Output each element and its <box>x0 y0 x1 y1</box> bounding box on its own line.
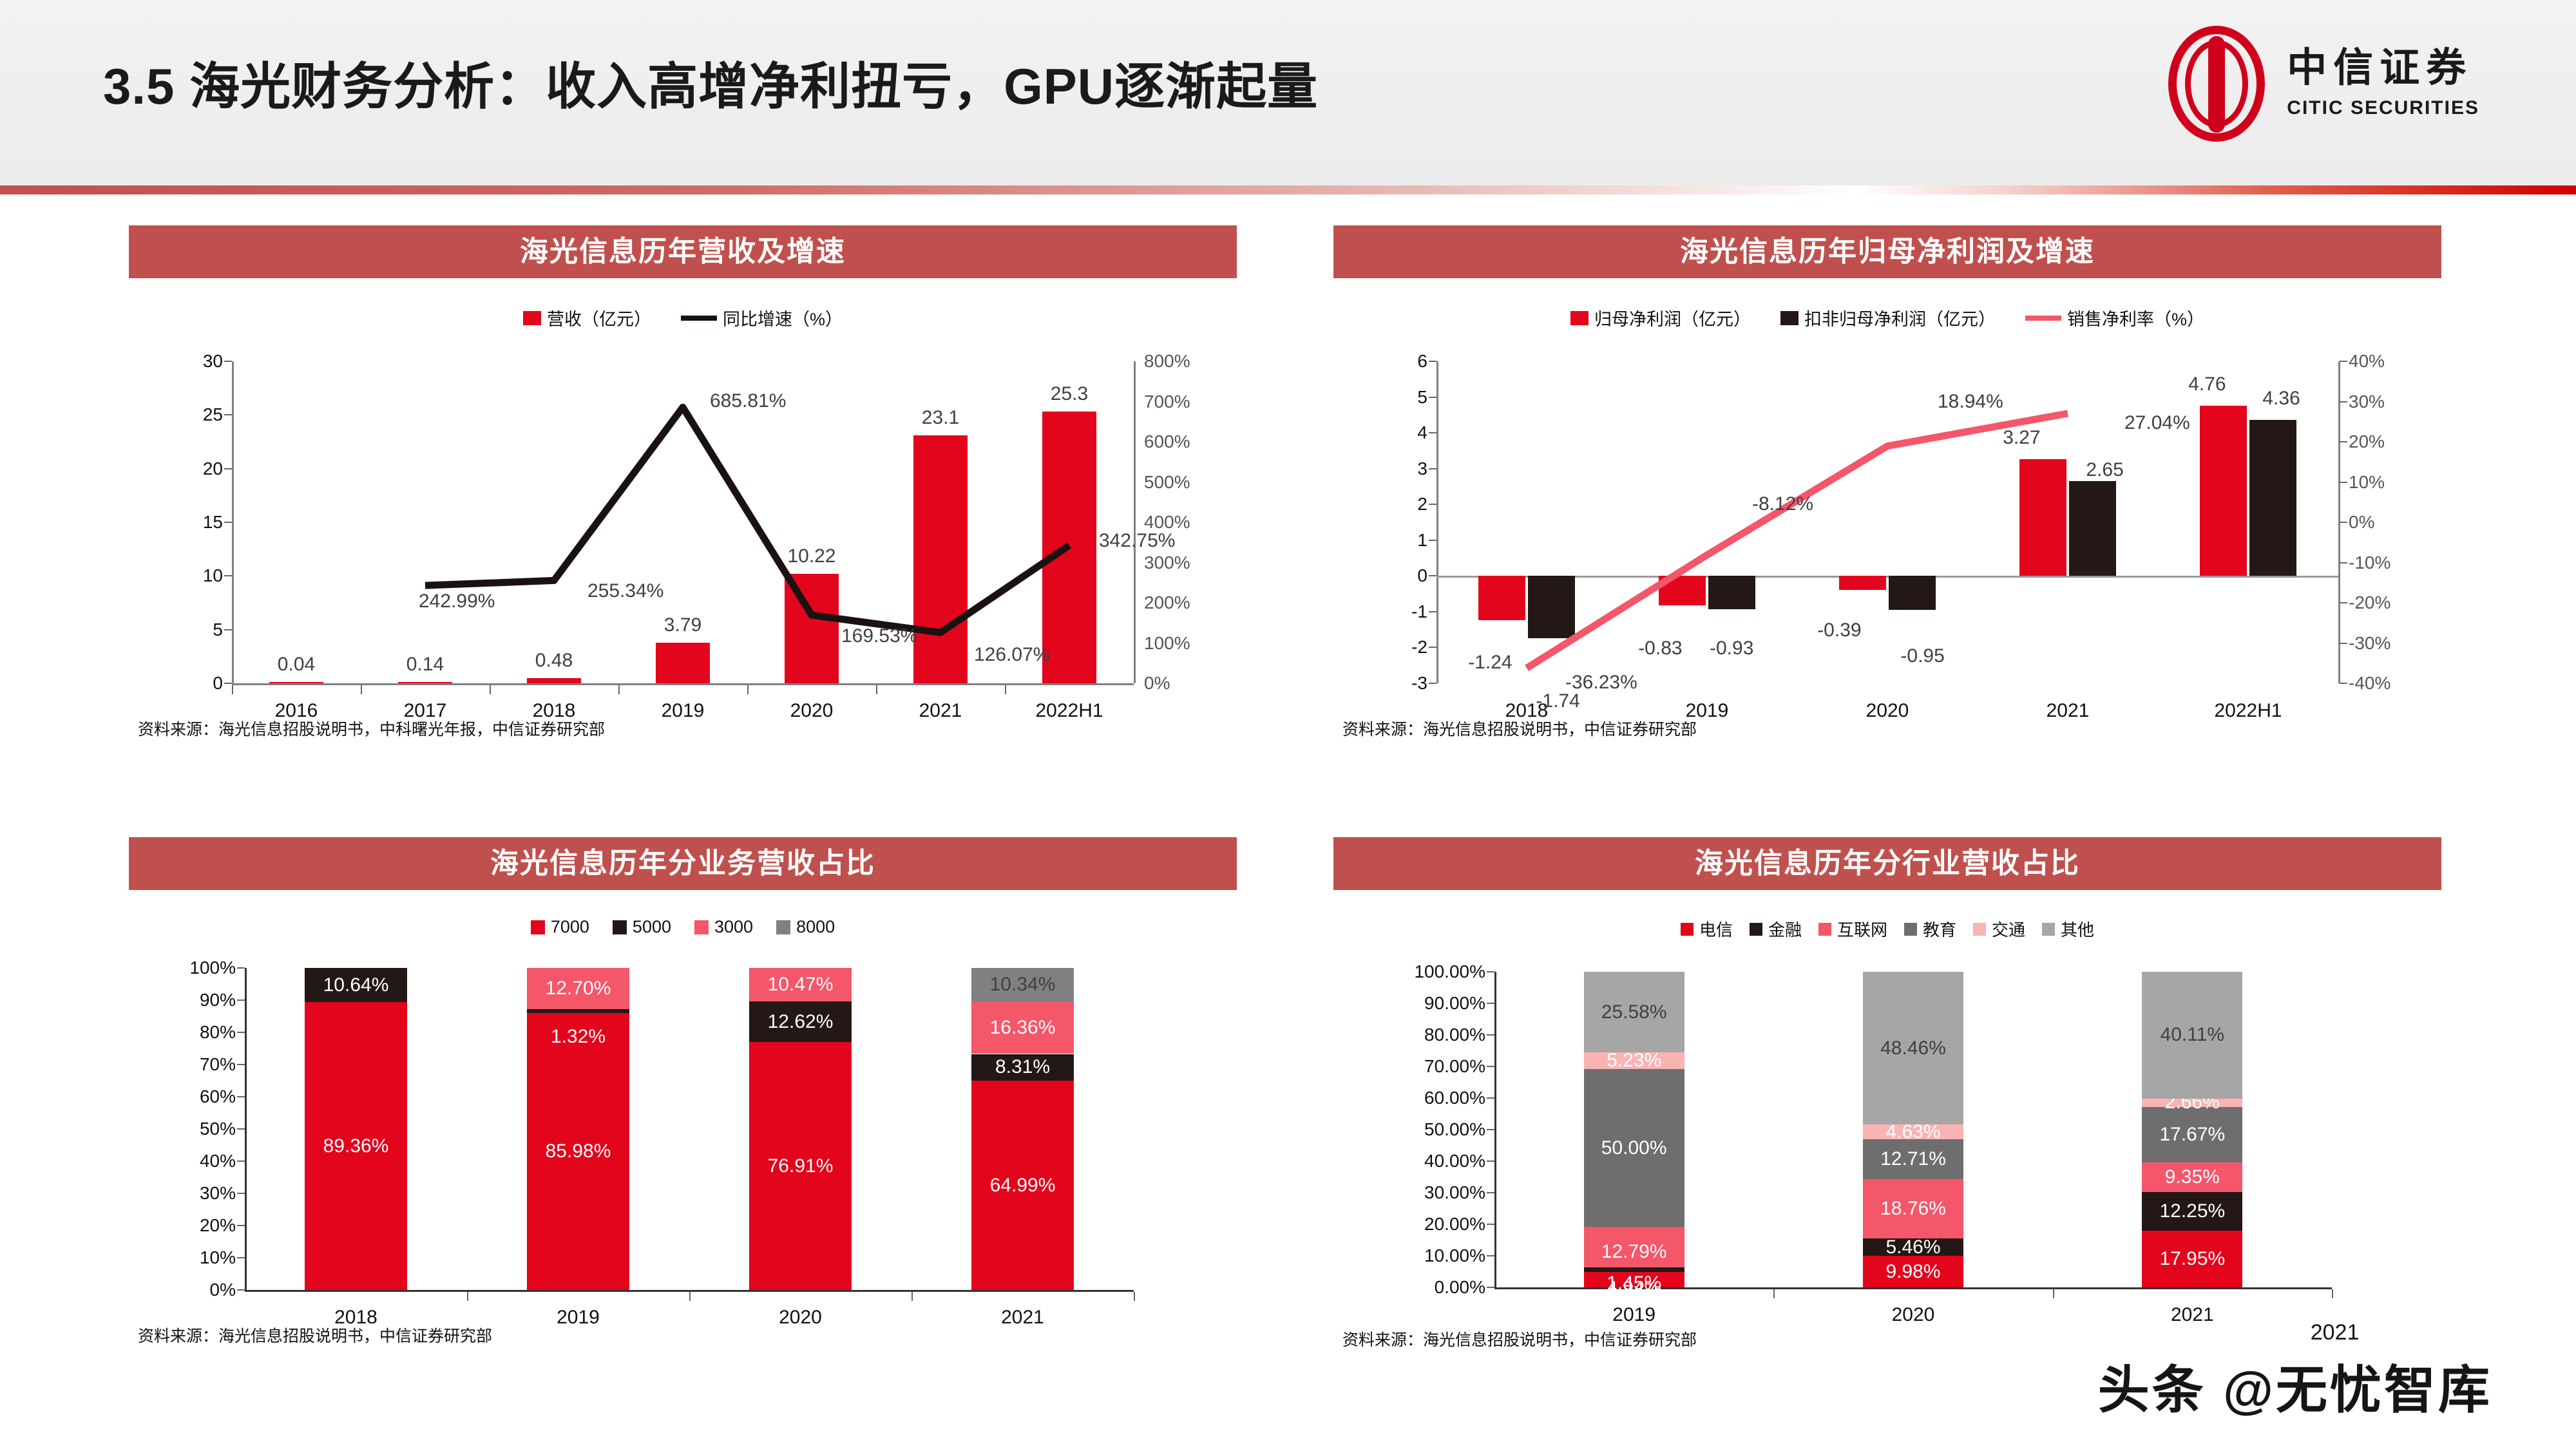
y-tick-mark <box>1487 1129 1494 1130</box>
segment-label-7000: 89.36% <box>323 1135 389 1157</box>
y-tick-mark-left <box>1429 611 1436 612</box>
line-label-growth-rate: 255.34% <box>587 580 663 602</box>
legend-item-adj-profit: 扣非归母净利润（亿元） <box>1780 305 1996 330</box>
legend-item-电信: 电信 <box>1681 917 1733 941</box>
y-tick-mark <box>237 967 245 969</box>
x-tick-mark <box>1773 1289 1775 1298</box>
legend-swatch-教育 <box>1904 923 1917 936</box>
y-tick-label-right: 10% <box>2349 472 2385 493</box>
x-tick-label: 2019 <box>1612 1304 1655 1326</box>
logo-english-name: CITIC SECURITIES <box>2287 97 2479 119</box>
segment-label-电信: 9.98% <box>1885 1261 1940 1283</box>
plot-area-profit: -3-2-10123456-40%-30%-20%-10%0%10%20%30%… <box>1436 361 2338 683</box>
line-label-growth-rate: 685.81% <box>710 390 786 412</box>
y-tick-mark-right <box>2340 522 2347 523</box>
header-divider <box>0 185 2576 194</box>
y-tick-label-left: 5 <box>213 620 223 640</box>
segment-label-5000: 8.31% <box>995 1056 1050 1078</box>
y-tick-label: 20.00% <box>1424 1214 1485 1235</box>
x-tick-label: 2020 <box>1892 1304 1935 1326</box>
legend-item-交通: 交通 <box>1973 917 2025 941</box>
y-tick-label-right: -40% <box>2349 673 2390 694</box>
y-tick-label-right: 600% <box>1144 431 1190 452</box>
legend-swatch-3000 <box>694 920 709 934</box>
legend-swatch-交通 <box>1973 923 1986 936</box>
y-tick-mark <box>237 1257 245 1258</box>
segment-label-互联网: 12.79% <box>1601 1241 1667 1263</box>
legend-label-adj-profit: 扣非归母净利润（亿元） <box>1804 305 1996 330</box>
x-tick-mark <box>1005 685 1006 694</box>
legend-label-growth: 同比增速（%） <box>723 305 843 330</box>
y-tick-label-left: 4 <box>1417 422 1427 443</box>
x-tick-mark <box>689 1292 691 1301</box>
legend-item-金融: 金融 <box>1750 917 1802 941</box>
legend-swatch-电信 <box>1681 923 1693 936</box>
y-tick-label-right: 200% <box>1144 592 1190 613</box>
y-tick-label-right: 30% <box>2349 392 2385 412</box>
segment-label-3000: 12.70% <box>546 978 611 999</box>
line-label-growth-rate: 126.07% <box>974 644 1050 666</box>
y-tick-label-right: 0% <box>2349 512 2374 533</box>
x-tick-label: 2018 <box>533 700 576 722</box>
y-tick-label-left: -2 <box>1411 637 1427 658</box>
y-tick-label: 60% <box>200 1086 236 1107</box>
y-tick-mark-right <box>2340 482 2347 483</box>
y-axis <box>245 968 247 1290</box>
x-tick-label: 2017 <box>404 700 447 722</box>
line-label-growth-rate: 242.99% <box>419 591 495 612</box>
legend-label-互联网: 互联网 <box>1837 917 1887 941</box>
legend-item-5000: 5000 <box>613 917 671 937</box>
y-tick-label-left: 30 <box>203 351 223 372</box>
plot-area-business-mix: 0%10%20%30%40%50%60%70%80%90%100%2018201… <box>245 968 1134 1290</box>
y-tick-label: 70.00% <box>1424 1056 1485 1077</box>
line-label-net-margin: 27.04% <box>2124 412 2190 434</box>
y-tick-label: 100.00% <box>1414 961 1485 982</box>
stack-segment-5000 <box>527 1009 629 1014</box>
y-tick-label-right: 500% <box>1144 472 1190 493</box>
legend-label-教育: 教育 <box>1923 917 1956 941</box>
y-tick-mark <box>1487 1097 1494 1099</box>
segment-label-7000: 76.91% <box>768 1155 834 1177</box>
y-tick-mark-right <box>2340 401 2347 402</box>
y-tick-mark-right <box>2340 562 2347 563</box>
y-tick-label: 0.00% <box>1435 1277 1485 1298</box>
chart-panel-revenue: 海光信息历年营收及增速 营收（亿元） 同比增速（%） 0510152025300… <box>129 225 1237 740</box>
legend-item-互联网: 互联网 <box>1818 917 1887 941</box>
y-tick-mark-left <box>1429 575 1436 576</box>
y-tick-label: 40% <box>200 1151 236 1171</box>
source-note-industry-mix: 资料来源：海光信息招股说明书，中信证券研究部 <box>1342 1327 2441 1350</box>
watermark-year: 2021 <box>2311 1320 2360 1345</box>
plot-area-industry-mix: 0.00%10.00%20.00%30.00%40.00%50.00%60.00… <box>1494 972 2332 1287</box>
y-tick-label-right: 0% <box>1144 673 1170 694</box>
y-axis <box>1494 972 1496 1287</box>
chart-legend-business-mix: 7000500030008000 <box>129 917 1237 937</box>
chart-title-revenue: 海光信息历年营收及增速 <box>129 225 1237 278</box>
x-tick-label: 2020 <box>1866 700 1909 722</box>
y-tick-mark <box>1487 971 1494 972</box>
y-tick-label: 50% <box>200 1119 236 1139</box>
chart-title-profit: 海光信息历年归母净利润及增速 <box>1333 225 2441 278</box>
legend-label-交通: 交通 <box>1992 917 2025 941</box>
y-tick-mark <box>1487 1034 1494 1036</box>
segment-label-5000: 12.62% <box>768 1011 834 1033</box>
y-tick-label-right: 700% <box>1144 392 1190 412</box>
segment-label-5000: 10.64% <box>323 974 389 996</box>
logo-chinese-name: 中信证券 <box>2287 48 2479 88</box>
y-axis-right <box>1134 361 1136 683</box>
segment-label-金融: 1.45% <box>1607 1273 1661 1294</box>
chart-panel-industry-mix: 海光信息历年分行业营收占比 电信金融互联网教育交通其他 0.00%10.00%2… <box>1333 837 2441 1350</box>
watermark-text: 头条 @无忧智库 <box>2098 1361 2492 1419</box>
y-tick-label-left: -1 <box>1411 601 1427 622</box>
y-tick-mark-left <box>224 575 232 576</box>
y-tick-label: 90.00% <box>1424 993 1485 1014</box>
legend-swatch-growth <box>681 316 717 321</box>
x-tick-label: 2021 <box>1001 1307 1044 1329</box>
x-tick-label: 2019 <box>1686 700 1729 722</box>
x-tick-mark <box>232 685 233 694</box>
legend-label-7000: 7000 <box>551 917 589 937</box>
segment-label-其他: 48.46% <box>1880 1037 1946 1059</box>
y-tick-mark-left <box>224 522 232 523</box>
y-tick-mark <box>1487 1224 1494 1225</box>
y-tick-mark-left <box>1429 361 1436 362</box>
y-tick-label: 100% <box>189 958 236 978</box>
x-tick-label: 2018 <box>334 1307 377 1329</box>
line-net-margin <box>1527 413 2068 668</box>
segment-label-教育: 50.00% <box>1601 1137 1667 1159</box>
y-tick-label-right: 800% <box>1144 351 1190 372</box>
legend-swatch-7000 <box>531 920 545 934</box>
y-tick-mark <box>237 1225 245 1226</box>
chart-title-industry-mix: 海光信息历年分行业营收占比 <box>1333 837 2441 890</box>
y-tick-label: 20% <box>200 1215 236 1236</box>
y-tick-label: 60.00% <box>1424 1088 1485 1108</box>
legend-swatch-5000 <box>613 920 627 934</box>
y-tick-mark <box>237 1160 245 1162</box>
y-tick-label-right: -30% <box>2349 633 2390 654</box>
legend-swatch-8000 <box>776 920 790 934</box>
x-tick-mark <box>361 685 362 694</box>
y-tick-mark-left <box>1429 397 1436 398</box>
line-growth-rate <box>425 407 1069 632</box>
page-title: 3.5 海光财务分析：收入高增净利扭亏，GPU逐渐起量 <box>103 46 1318 118</box>
legend-item-revenue-bar: 营收（亿元） <box>523 305 651 330</box>
y-tick-label-left: 6 <box>1417 351 1427 372</box>
legend-item-8000: 8000 <box>776 917 835 937</box>
legend-item-其他: 其他 <box>2042 917 2094 941</box>
x-tick-label: 2020 <box>790 700 834 722</box>
y-tick-label-left: 0 <box>1417 565 1427 586</box>
segment-label-8000: 10.34% <box>990 974 1056 996</box>
line-label-net-margin: -8.12% <box>1752 493 1813 515</box>
chart-legend-industry-mix: 电信金融互联网教育交通其他 <box>1333 917 2441 941</box>
chart-legend-revenue: 营收（亿元） 同比增速（%） <box>129 305 1237 330</box>
legend-item-教育: 教育 <box>1904 917 1956 941</box>
y-tick-mark-left <box>224 468 232 469</box>
segment-label-金融: 5.46% <box>1885 1236 1940 1258</box>
legend-swatch-adj-profit <box>1780 311 1798 325</box>
y-tick-label-left: 10 <box>203 565 223 586</box>
watermark: 头条 @无忧智库 2021 <box>2098 1349 2492 1423</box>
legend-label-5000: 5000 <box>633 917 671 937</box>
y-tick-mark <box>237 999 245 1001</box>
plot-area-revenue: 0510152025300%100%200%300%400%500%600%70… <box>232 361 1134 683</box>
x-tick-label: 2016 <box>275 700 318 722</box>
line-label-net-margin: 18.94% <box>1938 391 2003 413</box>
segment-label-金融: 12.25% <box>2159 1200 2225 1222</box>
source-note-business-mix: 资料来源：海光信息招股说明书，中信证券研究部 <box>138 1323 1237 1347</box>
x-tick-mark <box>747 685 749 694</box>
y-tick-mark <box>1487 1192 1494 1193</box>
y-tick-label-left: 1 <box>1417 530 1427 551</box>
y-tick-label-right: 100% <box>1144 633 1190 654</box>
chart-legend-profit: 归母净利润（亿元） 扣非归母净利润（亿元） 销售净利率（%） <box>1333 305 2441 330</box>
segment-label-互联网: 9.35% <box>2165 1166 2220 1188</box>
y-tick-mark-left <box>224 361 232 362</box>
y-tick-mark <box>237 1193 245 1194</box>
y-tick-label-left: -3 <box>1411 673 1427 694</box>
x-tick-mark <box>2053 1289 2054 1298</box>
x-tick-label: 2021 <box>2171 1304 2214 1326</box>
y-tick-label-left: 20 <box>203 459 223 479</box>
y-tick-mark-left <box>224 683 232 684</box>
y-tick-mark <box>237 1128 245 1130</box>
x-tick-label: 2020 <box>779 1307 822 1329</box>
y-tick-label-right: 300% <box>1144 553 1190 573</box>
segment-label-其他: 25.58% <box>1601 1001 1667 1023</box>
legend-swatch-net-margin <box>2025 316 2061 321</box>
legend-label-电信: 电信 <box>1699 917 1733 941</box>
citic-logo-mark-icon <box>2168 26 2265 142</box>
y-tick-mark <box>237 1032 245 1033</box>
y-tick-label-left: 5 <box>1417 387 1427 408</box>
y-tick-mark-right <box>2340 602 2347 603</box>
y-tick-mark <box>1487 1160 1494 1162</box>
legend-item-net-margin: 销售净利率（%） <box>2025 305 2204 330</box>
y-tick-mark-left <box>224 414 232 415</box>
chart-panel-profit: 海光信息历年归母净利润及增速 归母净利润（亿元） 扣非归母净利润（亿元） 销售净… <box>1333 225 2441 740</box>
segment-label-教育: 12.71% <box>1880 1148 1946 1170</box>
x-axis <box>232 683 1134 685</box>
y-tick-mark <box>1487 1287 1494 1288</box>
y-tick-mark-right <box>2340 683 2347 684</box>
y-tick-label: 10% <box>200 1247 236 1268</box>
y-tick-mark-right <box>2340 643 2347 644</box>
y-tick-label: 10.00% <box>1424 1245 1485 1266</box>
x-tick-mark <box>911 1292 913 1301</box>
segment-label-5000: 1.32% <box>551 1026 606 1048</box>
y-tick-mark-left <box>1429 540 1436 541</box>
y-tick-label: 70% <box>200 1054 236 1075</box>
legend-label-3000: 3000 <box>714 917 753 937</box>
y-tick-mark <box>1487 1066 1494 1067</box>
segment-label-3000: 16.36% <box>990 1017 1056 1039</box>
y-tick-label: 80% <box>200 1022 236 1043</box>
y-tick-mark-left <box>1429 647 1436 648</box>
y-tick-label-left: 25 <box>203 404 223 425</box>
legend-item-7000: 7000 <box>531 917 589 937</box>
y-tick-label-left: 2 <box>1417 494 1427 515</box>
legend-swatch-net-profit <box>1570 311 1589 325</box>
y-tick-mark-left <box>1429 683 1436 684</box>
chart-panel-business-mix: 海光信息历年分业务营收占比 7000500030008000 0%10%20%3… <box>129 837 1237 1347</box>
y-tick-mark <box>1487 1255 1494 1256</box>
x-tick-mark <box>876 685 877 694</box>
x-tick-mark <box>2332 1289 2333 1298</box>
line-label-net-margin: -36.23% <box>1565 672 1637 694</box>
legend-swatch-revenue <box>523 311 541 325</box>
x-tick-mark <box>1134 1292 1135 1301</box>
x-tick-label: 2019 <box>557 1307 600 1329</box>
y-tick-label-left: 15 <box>203 512 223 533</box>
y-tick-label: 90% <box>200 990 236 1010</box>
y-tick-label-left: 3 <box>1417 459 1427 479</box>
y-tick-mark-left <box>1429 468 1436 469</box>
legend-item-growth-line: 同比增速（%） <box>681 305 843 330</box>
y-tick-mark <box>237 1064 245 1065</box>
y-tick-label: 30.00% <box>1424 1182 1485 1203</box>
x-tick-label: 2021 <box>919 700 962 722</box>
legend-swatch-金融 <box>1750 923 1762 936</box>
segment-label-电信: 17.95% <box>2159 1248 2225 1270</box>
y-tick-label-right: -10% <box>2349 553 2390 573</box>
x-tick-label: 2022H1 <box>1035 700 1103 722</box>
y-tick-label-right: 20% <box>2349 431 2385 452</box>
y-tick-label: 40.00% <box>1424 1151 1485 1171</box>
legend-item-net-profit: 归母净利润（亿元） <box>1570 305 1751 330</box>
y-tick-label: 0% <box>210 1280 236 1300</box>
y-tick-mark <box>1487 1003 1494 1004</box>
segment-label-3000: 10.47% <box>768 974 834 996</box>
stack-segment-金融 <box>1584 1267 1684 1272</box>
x-tick-label: 2022H1 <box>2214 700 2282 722</box>
legend-item-3000: 3000 <box>694 917 753 937</box>
legend-label-金融: 金融 <box>1768 917 1802 941</box>
legend-swatch-其他 <box>2042 923 2055 936</box>
legend-label-8000: 8000 <box>796 917 835 937</box>
citic-logo: 中信证券 CITIC SECURITIES <box>2168 26 2479 142</box>
legend-label-其他: 其他 <box>2061 917 2094 941</box>
segment-label-7000: 64.99% <box>990 1175 1056 1197</box>
page-header: 3.5 海光财务分析：收入高增净利扭亏，GPU逐渐起量 中信证券 CITIC S… <box>0 0 2576 187</box>
line-label-growth-rate: 342.75% <box>1099 530 1175 552</box>
y-tick-mark-left <box>1429 432 1436 433</box>
y-tick-mark <box>237 1096 245 1097</box>
y-tick-mark-left <box>224 629 232 630</box>
y-tick-label-right: -20% <box>2349 592 2390 613</box>
segment-label-7000: 85.98% <box>546 1141 611 1162</box>
x-tick-mark <box>467 1292 468 1301</box>
y-tick-label: 50.00% <box>1424 1119 1485 1140</box>
legend-label-net-margin: 销售净利率（%） <box>2067 305 2204 330</box>
y-tick-label: 30% <box>200 1183 236 1204</box>
x-tick-mark <box>618 685 620 694</box>
chart-title-business-mix: 海光信息历年分业务营收占比 <box>129 837 1237 890</box>
x-tick-mark <box>490 685 491 694</box>
legend-swatch-互联网 <box>1818 923 1831 936</box>
legend-label-revenue: 营收（亿元） <box>547 305 651 330</box>
y-tick-label-left: 0 <box>213 673 223 694</box>
x-tick-label: 2021 <box>2046 700 2090 722</box>
legend-label-net-profit: 归母净利润（亿元） <box>1594 305 1751 330</box>
segment-label-其他: 40.11% <box>2161 1024 2225 1046</box>
segment-label-互联网: 18.76% <box>1880 1198 1946 1220</box>
segment-label-交通: 5.23% <box>1607 1050 1661 1072</box>
y-tick-mark-right <box>2340 361 2347 362</box>
segment-label-教育: 17.67% <box>2159 1124 2225 1146</box>
y-tick-label-right: 40% <box>2349 351 2385 372</box>
y-tick-label: 80.00% <box>1424 1025 1485 1045</box>
y-tick-mark-right <box>2340 441 2347 442</box>
y-tick-mark-left <box>1429 504 1436 505</box>
line-label-growth-rate: 169.53% <box>841 625 917 647</box>
x-tick-label: 2019 <box>662 700 705 722</box>
y-tick-mark <box>237 1289 245 1291</box>
